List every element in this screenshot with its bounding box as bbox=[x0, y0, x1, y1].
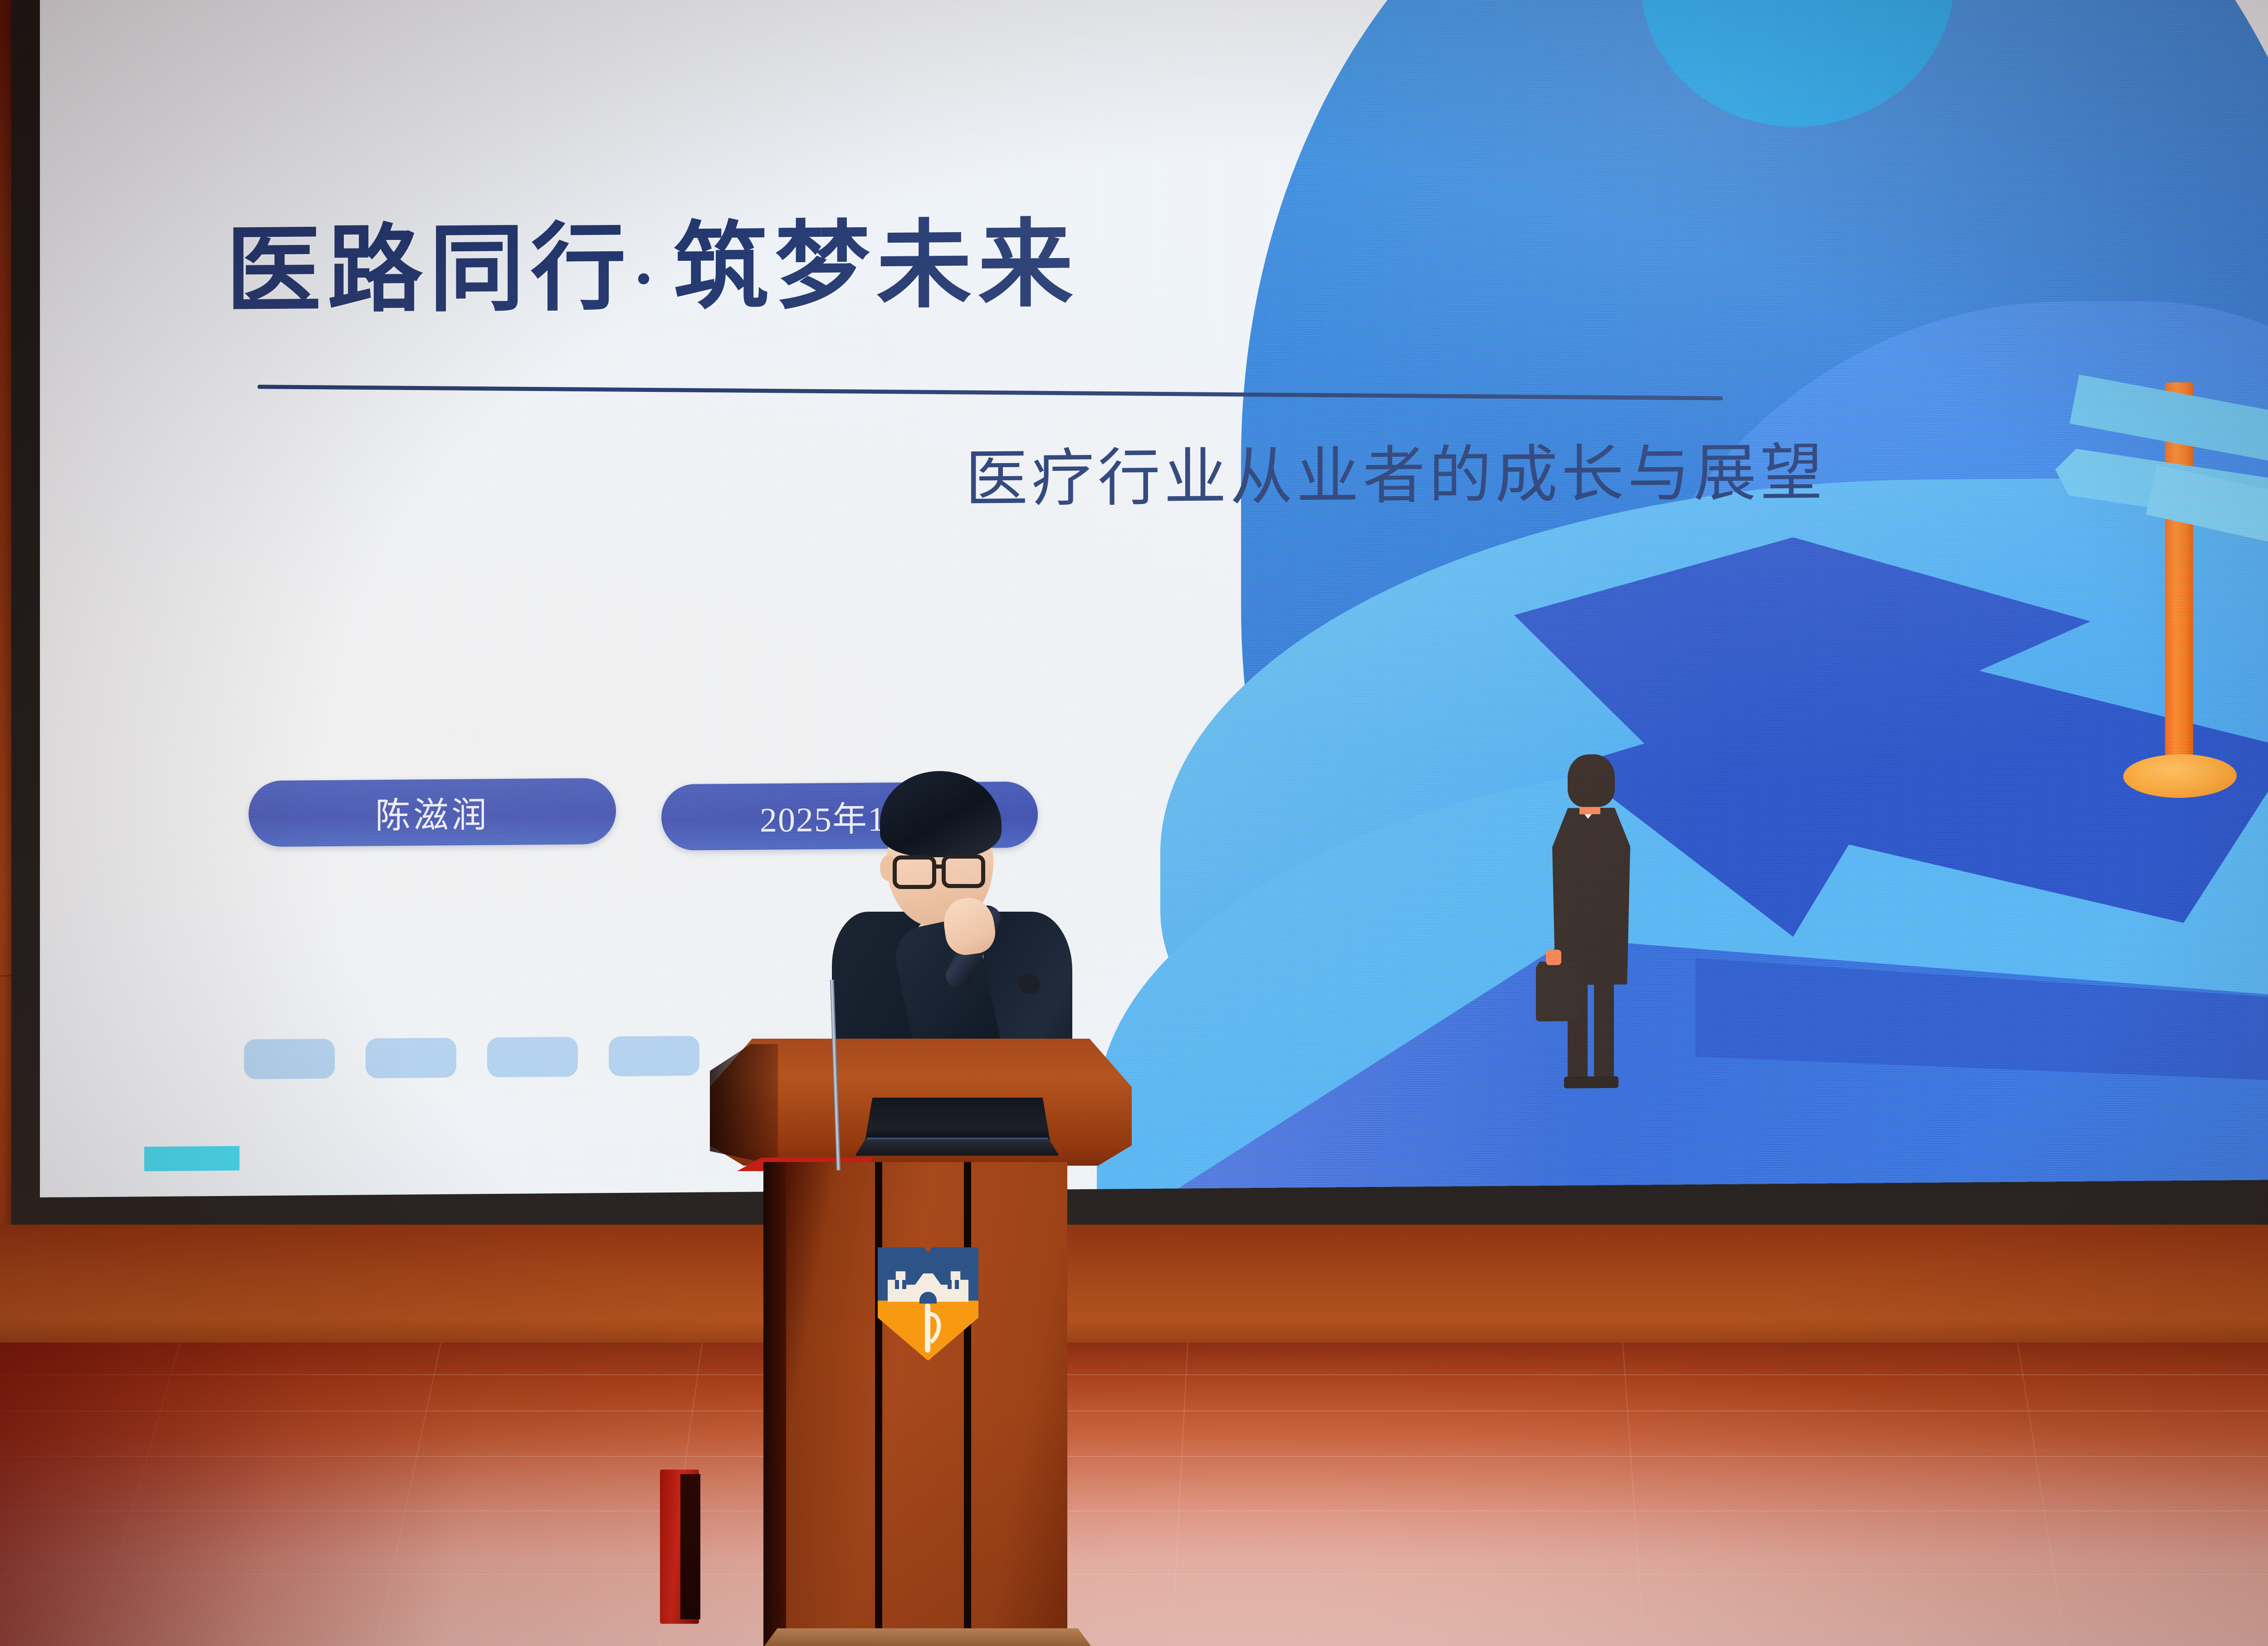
slide-title-first: 医路同行 bbox=[226, 216, 632, 325]
dash-mark bbox=[366, 1038, 456, 1079]
speaker-name-pill: 陈滋润 bbox=[249, 778, 616, 847]
presentation-slide: 医路同行·筑梦未来 医疗行业从业者的成长与展望 陈滋润 2025年12月 bbox=[40, 0, 2268, 1197]
podium-front-panel bbox=[786, 1162, 1067, 1646]
slide-title-separator: · bbox=[632, 241, 673, 317]
stage-front-wood-band bbox=[0, 1225, 2268, 1356]
slide-text-layer: 医路同行·筑梦未来 医疗行业从业者的成长与展望 陈滋润 2025年12月 bbox=[40, 0, 2268, 1197]
podium-top-shadow bbox=[710, 1044, 778, 1166]
decorative-dashes bbox=[244, 1035, 752, 1083]
medical-school-crest-icon bbox=[878, 1247, 978, 1361]
podium-groove bbox=[964, 1162, 971, 1646]
red-floor-object-edge bbox=[680, 1474, 700, 1619]
podium-base-foot bbox=[764, 1628, 1091, 1646]
dash-mark bbox=[244, 1039, 335, 1079]
slide-subtitle: 医疗行业从业者的成长与展望 bbox=[965, 421, 1826, 519]
stage-floor bbox=[0, 1343, 2268, 1646]
presentation-scene: 医路同行·筑梦未来 医疗行业从业者的成长与展望 陈滋润 2025年12月 bbox=[0, 0, 2268, 1646]
speaking-podium bbox=[710, 1039, 1132, 1646]
dash-mark bbox=[487, 1037, 578, 1078]
slide-title: 医路同行·筑梦未来 bbox=[226, 187, 1080, 332]
eyeglasses-left-lens bbox=[893, 855, 936, 889]
speaker-hair bbox=[880, 771, 1002, 857]
podium-groove bbox=[875, 1162, 882, 1646]
title-divider-line bbox=[258, 385, 1723, 400]
eyeglasses-right-lens bbox=[942, 855, 985, 888]
laptop-screen bbox=[865, 1098, 1050, 1141]
eyeglasses-bridge bbox=[935, 865, 943, 869]
laptop-computer bbox=[855, 1098, 1059, 1166]
laptop-base bbox=[855, 1139, 1059, 1156]
slide-title-second: 筑梦未来 bbox=[673, 213, 1080, 321]
corner-cyan-marker bbox=[144, 1146, 240, 1172]
dash-mark bbox=[609, 1036, 699, 1077]
